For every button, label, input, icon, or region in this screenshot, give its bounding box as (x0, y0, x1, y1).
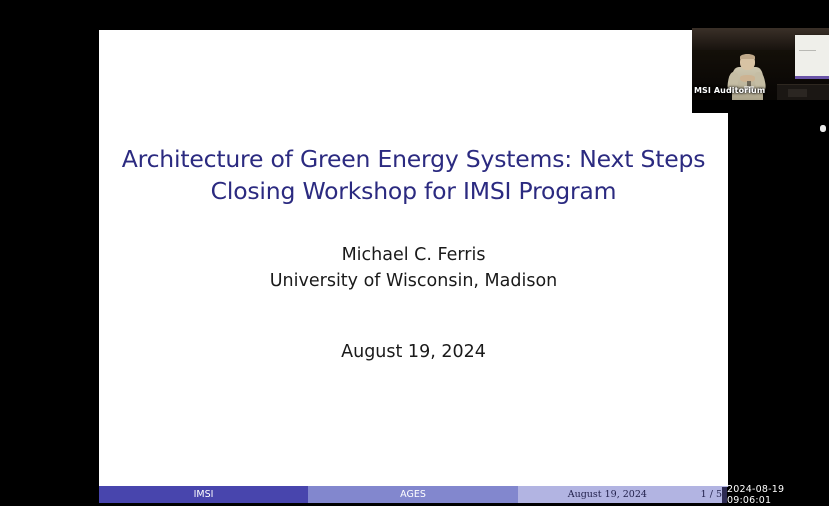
footline-frame-number: 1 / 5 (697, 489, 722, 500)
footline-date: August 19, 2024 (518, 489, 697, 500)
pip-projection-screen (795, 35, 829, 79)
webcam-location-label: MSI Auditorium (694, 86, 765, 95)
recorder-timestamp: 2024-08-19 09:06:01 (727, 487, 829, 503)
recording-canvas: Architecture of Green Energy Systems: Ne… (0, 0, 829, 505)
slide-content-area: Architecture of Green Energy Systems: Ne… (99, 30, 728, 485)
slide-date: August 19, 2024 (99, 340, 728, 364)
footline-short-title: AGES (308, 486, 518, 503)
slide-author-affiliation: Michael C. Ferris University of Wisconsi… (99, 242, 728, 294)
pip-screen-text-line (799, 50, 816, 51)
pip-speaker-hair (740, 54, 755, 60)
pip-screen-footer-band (795, 76, 829, 79)
presentation-slide[interactable]: Architecture of Green Energy Systems: Ne… (99, 30, 728, 503)
footline-info: August 19, 2024 1 / 5 (518, 486, 728, 503)
pip-laptop (788, 89, 807, 97)
slide-footline: IMSI AGES August 19, 2024 1 / 5 (99, 486, 728, 503)
mouse-cursor-dot (820, 125, 826, 132)
footline-institute: IMSI (99, 486, 308, 503)
slide-title: Architecture of Green Energy Systems: Ne… (99, 143, 728, 207)
pip-letterbox-bar (692, 100, 829, 113)
webcam-pip-overlay[interactable]: MSI Auditorium (692, 28, 829, 113)
